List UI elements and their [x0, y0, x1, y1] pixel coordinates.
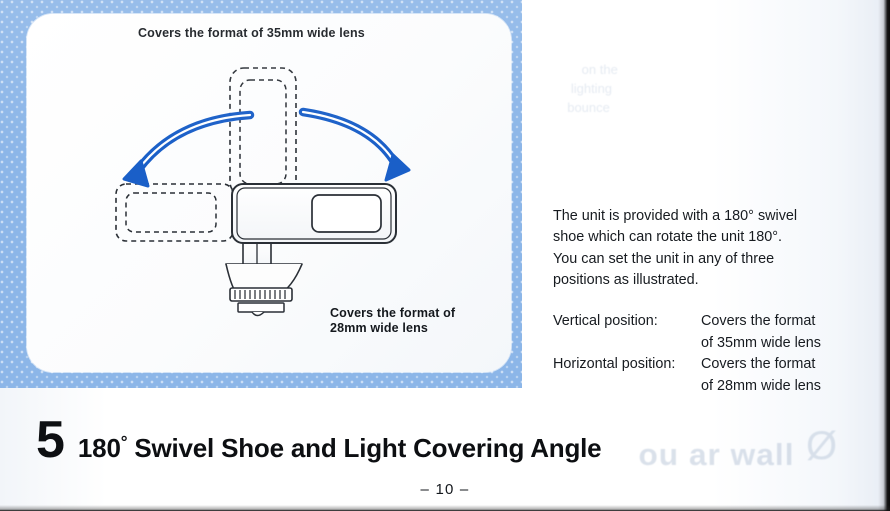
description-paragraph: The unit is provided with a 180° swivel …: [553, 206, 849, 292]
description-line-1: The unit is provided with a 180° swivel: [553, 206, 849, 227]
flash-head-dashed-left: [116, 184, 233, 241]
position-value-horizontal-line2: of 28mm wide lens: [701, 376, 853, 398]
position-value-horizontal-line1: Covers the format: [701, 354, 815, 376]
section-title-part-1: 180: [78, 433, 121, 463]
description-line-3: You can set the unit in any of three: [553, 249, 849, 270]
section-title: 180° Swivel Shoe and Light Covering Angl…: [78, 433, 602, 463]
caption-28mm-line2: 28mm wide lens: [330, 321, 428, 335]
swivel-shoe-diagram: [0, 0, 522, 388]
description-line-2: shoe which can rotate the unit 180°.: [553, 227, 849, 248]
description-line-4: positions as illustrated.: [553, 270, 849, 291]
position-row-horizontal: Horizontal position: Covers the format: [553, 354, 853, 376]
card-ghost-text: [57, 134, 337, 284]
flash-head-dashed-vertical: [230, 68, 296, 196]
caption-28mm: Covers the format of28mm wide lens: [330, 306, 455, 336]
position-value-vertical-line2: of 35mm wide lens: [701, 333, 853, 355]
section-number: 5: [36, 414, 64, 466]
ghost-heading-text: ou ar wall: [638, 437, 794, 473]
arrow-left: [124, 115, 250, 186]
scan-edge-right: [878, 0, 890, 511]
section-heading: 5 180° Swivel Shoe and Light Covering An…: [36, 414, 601, 466]
section-title-part-2: Swivel Shoe and Light Covering Angle: [127, 433, 601, 463]
position-row-vertical: Vertical position: Covers the format: [553, 311, 853, 333]
position-list: Vertical position: Covers the format of …: [553, 311, 853, 397]
scan-edge-bottom: [0, 505, 890, 511]
position-label-horizontal: Horizontal position:: [553, 354, 701, 376]
caption-35mm: Covers the format of 35mm wide lens: [138, 26, 365, 41]
diagram-card: [27, 14, 511, 372]
flash-head-solid: [232, 184, 396, 243]
swivel-foot: [226, 264, 302, 295]
ghost-bleedthrough-text: on the lighting bounce: [560, 60, 618, 117]
page-number: – 10 –: [0, 481, 890, 498]
ghost-mark-glyph: Ø: [806, 424, 837, 469]
mount-plate: [238, 303, 284, 316]
manual-page: on the lighting bounce: [0, 0, 890, 511]
arrow-right: [303, 112, 409, 180]
position-label-vertical: Vertical position:: [553, 311, 701, 333]
caption-28mm-line1: Covers the format of: [330, 306, 455, 320]
diagram-panel: Covers the format of 35mm wide lens Cove…: [0, 0, 522, 388]
knurled-ring: [230, 288, 292, 301]
swivel-stem: [243, 240, 271, 268]
position-value-vertical-line1: Covers the format: [701, 311, 815, 333]
